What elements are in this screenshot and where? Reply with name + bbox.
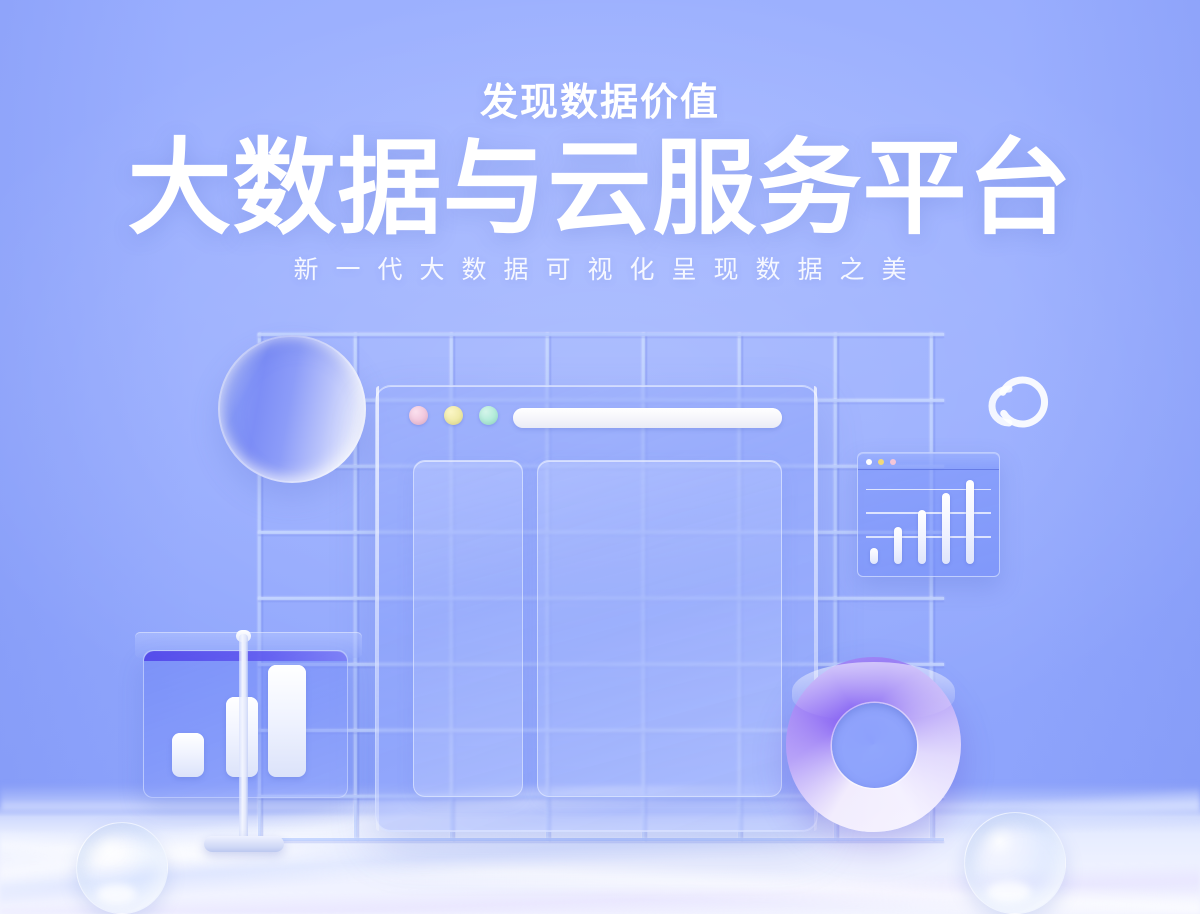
hero-text-block: 发现数据价值 大数据与云服务平台 新一代大数据可视化呈现数据之美 — [0, 82, 1200, 285]
card-bar-1 — [172, 733, 204, 777]
address-bar-input[interactable] — [513, 408, 782, 428]
stand-pole — [239, 634, 248, 846]
stand-base — [204, 836, 284, 852]
window-left-edge — [376, 386, 379, 831]
main-browser-mockup[interactable] — [375, 385, 818, 832]
mini-bar — [966, 480, 974, 564]
mini-window-titlebar — [858, 453, 999, 470]
mini-bar — [918, 510, 926, 564]
donut-chart-shape — [786, 657, 961, 832]
analytics-mini-window[interactable] — [857, 452, 1000, 577]
glass-ball-left — [76, 822, 168, 914]
window-titlebar — [376, 386, 817, 444]
cloud-icon — [978, 363, 1070, 431]
close-dot-icon[interactable] — [409, 406, 428, 425]
minimize-dot-icon[interactable] — [444, 406, 463, 425]
glass-ball-right — [964, 812, 1066, 914]
donut-hole — [832, 703, 917, 788]
page-title: 大数据与云服务平台 — [0, 137, 1200, 241]
hero-banner-stage: 发现数据价值 大数据与云服务平台 新一代大数据可视化呈现数据之美 — [0, 0, 1200, 914]
eyebrow-text: 发现数据价值 — [0, 82, 1200, 125]
card-bar-3 — [268, 665, 306, 777]
mini-bar-chart — [866, 477, 991, 564]
content-pane[interactable] — [537, 460, 782, 797]
mini-bar — [870, 548, 878, 564]
mini-bar — [942, 493, 950, 564]
glass-sphere-disc — [218, 335, 366, 483]
disc-rim — [218, 335, 366, 483]
mini-minimize-dot-icon[interactable] — [878, 459, 884, 465]
mini-close-dot-icon[interactable] — [866, 459, 872, 465]
mini-maximize-dot-icon[interactable] — [890, 459, 896, 465]
sidebar-pane[interactable] — [413, 460, 523, 797]
mini-bar — [894, 527, 902, 564]
subtitle-text: 新一代大数据可视化呈现数据之美 — [0, 255, 1200, 285]
maximize-dot-icon[interactable] — [479, 406, 498, 425]
